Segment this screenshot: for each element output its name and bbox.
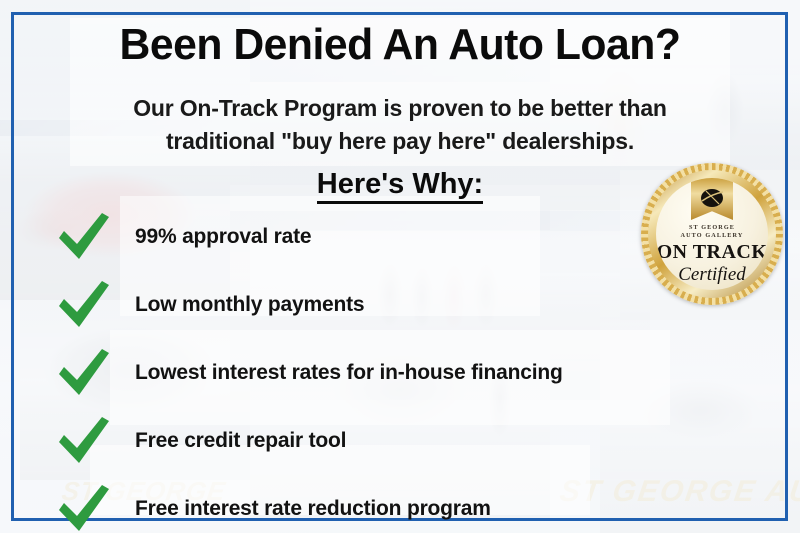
section-heading-text: Here's Why: <box>317 168 483 204</box>
seal-dealer-name: ST GEORGE AUTO GALLERY <box>656 224 768 241</box>
benefit-item: Lowest interest rates for in-house finan… <box>55 344 665 402</box>
benefit-item: Free credit repair tool <box>55 412 665 470</box>
benefit-label: Free credit repair tool <box>113 429 346 453</box>
benefits-list: 99% approval rate Low monthly payments L… <box>55 208 665 533</box>
seal-main-text: ON TRACK <box>656 241 768 264</box>
seal-dealer-line-1: ST GEORGE <box>656 224 768 232</box>
advertisement-banner: ST GEORGE AUTO ST GEORGE Been Denied An … <box>0 0 800 533</box>
check-icon <box>55 279 113 331</box>
check-icon <box>55 347 113 399</box>
advertisement-content: Been Denied An Auto Loan? Our On-Track P… <box>0 0 800 533</box>
seal-script-text: Certified <box>656 264 768 286</box>
check-icon <box>55 415 113 467</box>
benefit-label: Lowest interest rates for in-house finan… <box>113 361 563 385</box>
subheadline-line-2: traditional "buy here pay here" dealersh… <box>90 125 710 158</box>
subheadline-line-1: Our On-Track Program is proven to be bet… <box>90 92 710 125</box>
benefit-label: Free interest rate reduction program <box>113 497 491 521</box>
benefit-item: Free interest rate reduction program <box>55 480 665 533</box>
benefit-label: Low monthly payments <box>113 293 364 317</box>
benefit-label: 99% approval rate <box>113 225 311 249</box>
seal-face: ST GEORGE AUTO GALLERY ON TRACK Certifie… <box>656 178 768 290</box>
check-icon <box>55 483 113 533</box>
car-emblem-icon <box>697 185 727 211</box>
benefit-item: 99% approval rate <box>55 208 665 266</box>
check-icon <box>55 211 113 263</box>
on-track-certified-seal: ST GEORGE AUTO GALLERY ON TRACK Certifie… <box>641 163 783 305</box>
subheadline: Our On-Track Program is proven to be bet… <box>90 92 710 157</box>
headline: Been Denied An Auto Loan? <box>12 22 788 68</box>
seal-dealer-line-2: AUTO GALLERY <box>656 232 768 240</box>
benefit-item: Low monthly payments <box>55 276 665 334</box>
